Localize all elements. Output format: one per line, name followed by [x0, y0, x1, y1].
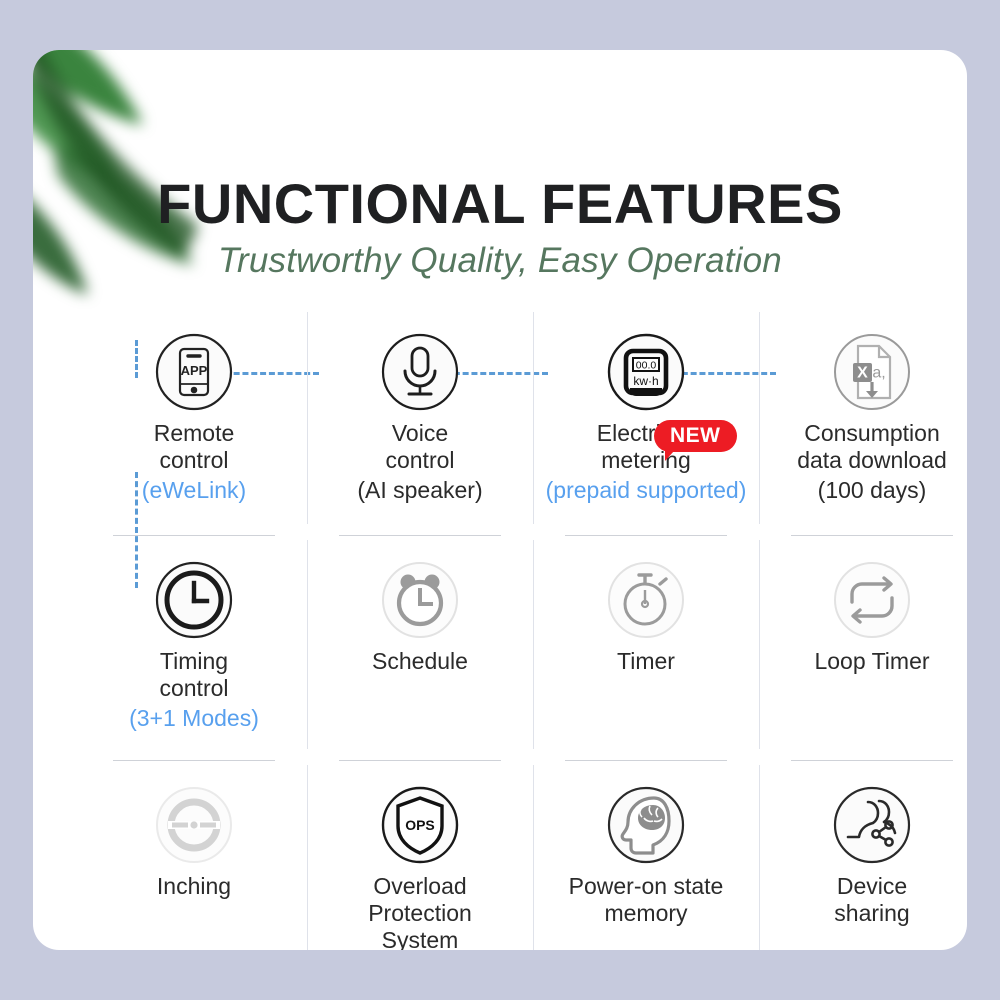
feature-cell[interactable]: Device sharing	[759, 761, 967, 950]
feature-label: Voice control	[385, 420, 454, 474]
feature-sublabel: (eWeLink)	[142, 477, 246, 504]
feature-label: Loop Timer	[814, 648, 929, 675]
microphone-icon	[380, 332, 460, 412]
feature-cell[interactable]: X a, Consumption data download(100 days)	[759, 308, 967, 536]
brain-head-icon	[606, 785, 686, 865]
feature-cell[interactable]: Timing control(3+1 Modes)	[81, 536, 307, 761]
app-phone-icon: APP	[154, 332, 234, 412]
feature-sublabel: (prepaid supported)	[546, 477, 747, 504]
svg-text:kw·h: kw·h	[633, 374, 658, 388]
feature-label: Consumption data download	[797, 420, 947, 474]
poster-stage: FUNCTIONAL FEATURES Trustworthy Quality,…	[0, 0, 1000, 1000]
feature-cell[interactable]: OPSOverload Protection System	[307, 761, 533, 950]
feature-label: Power-on state memory	[569, 873, 724, 927]
feature-label: Inching	[157, 873, 231, 900]
svg-text:a,: a,	[872, 365, 885, 382]
feature-card: FUNCTIONAL FEATURES Trustworthy Quality,…	[33, 50, 967, 950]
feature-cell[interactable]: Inching	[81, 761, 307, 950]
svg-text:X: X	[857, 365, 868, 382]
loop-repeat-icon	[832, 560, 912, 640]
feature-cell[interactable]: 00.0 kw·hElectricity metering(prepaid su…	[533, 308, 759, 536]
stopwatch-icon	[606, 560, 686, 640]
feature-sublabel: (100 days)	[818, 477, 927, 504]
page-title: FUNCTIONAL FEATURES	[33, 176, 967, 232]
device-sharing-icon	[832, 785, 912, 865]
feature-label: Overload Protection System	[368, 873, 472, 950]
electricity-meter-icon: 00.0 kw·h	[606, 332, 686, 412]
inching-icon	[154, 785, 234, 865]
feature-label: Remote control	[154, 420, 235, 474]
feature-cell[interactable]: Power-on state memory	[533, 761, 759, 950]
feature-sublabel: (AI speaker)	[357, 477, 482, 504]
clock-icon	[154, 560, 234, 640]
svg-text:00.0: 00.0	[636, 360, 657, 372]
feature-cell[interactable]: Schedule	[307, 536, 533, 761]
feature-cell[interactable]: Voice control(AI speaker)	[307, 308, 533, 536]
feature-cell[interactable]: APPRemote control(eWeLink)	[81, 308, 307, 536]
feature-label: Device sharing	[834, 873, 909, 927]
feature-label: Timer	[617, 648, 675, 675]
page-subtitle: Trustworthy Quality, Easy Operation	[33, 242, 967, 281]
svg-text:APP: APP	[181, 363, 208, 378]
excel-download-icon: X a,	[832, 332, 912, 412]
features-grid: APPRemote control(eWeLink) Voice control…	[81, 308, 967, 950]
shield-ops-icon: OPS	[380, 785, 460, 865]
feature-cell[interactable]: Timer	[533, 536, 759, 761]
feature-cell[interactable]: Loop Timer	[759, 536, 967, 761]
svg-text:OPS: OPS	[405, 817, 435, 833]
feature-sublabel: (3+1 Modes)	[129, 705, 259, 732]
new-badge: NEW	[654, 420, 737, 452]
alarm-clock-icon	[380, 560, 460, 640]
feature-label: Schedule	[372, 648, 468, 675]
feature-label: Timing control	[159, 648, 228, 702]
